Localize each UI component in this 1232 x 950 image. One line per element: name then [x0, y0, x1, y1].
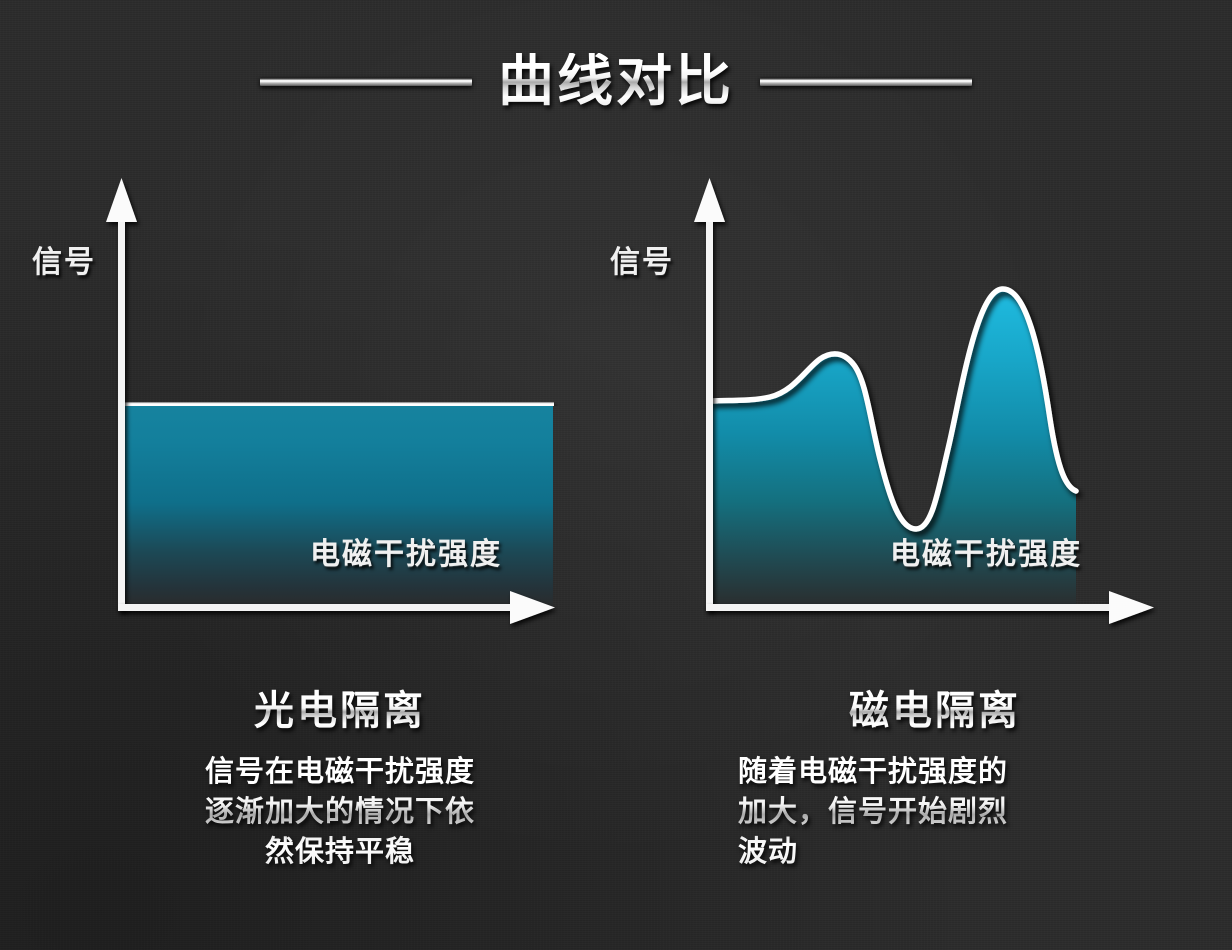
- caption-body: 信号在电磁干扰强度 逐渐加大的情况下依 然保持平稳: [105, 752, 575, 872]
- x-axis-label: 电磁干扰强度: [890, 540, 1082, 570]
- caption-line: 信号在电磁干扰强度: [105, 752, 575, 792]
- y-axis-label: 信号: [32, 248, 96, 278]
- y-axis-label: 信号: [610, 248, 674, 278]
- x-axis-label: 电磁干扰强度: [310, 540, 502, 570]
- title-rule-right-icon: [760, 77, 972, 86]
- page-title-row: 曲线对比: [0, 38, 1232, 124]
- optical-isolation-caption: 光电隔离 信号在电磁干扰强度 逐渐加大的情况下依 然保持平稳: [105, 688, 575, 872]
- signal-area-fill: [123, 406, 553, 608]
- caption-line: 然保持平稳: [105, 832, 575, 872]
- magnetic-isolation-caption: 磁电隔离 随着电磁干扰强度的 加大，信号开始剧烈 波动: [700, 688, 1170, 872]
- magnetic-isolation-chart: 信号 电磁干扰强度: [598, 170, 1158, 640]
- caption-line: 加大，信号开始剧烈: [738, 792, 1170, 832]
- caption-heading: 光电隔离: [105, 688, 575, 734]
- signal-curve-line: [122, 403, 554, 405]
- caption-line: 波动: [738, 832, 1170, 872]
- page-title: 曲线对比: [498, 53, 734, 109]
- caption-line: 逐渐加大的情况下依: [105, 792, 575, 832]
- caption-line: 随着电磁干扰强度的: [738, 752, 1170, 792]
- caption-heading: 磁电隔离: [700, 688, 1170, 734]
- title-rule-left-icon: [260, 77, 472, 86]
- caption-body: 随着电磁干扰强度的 加大，信号开始剧烈 波动: [700, 752, 1170, 872]
- optical-isolation-chart: 信号 电磁干扰强度: [10, 170, 570, 640]
